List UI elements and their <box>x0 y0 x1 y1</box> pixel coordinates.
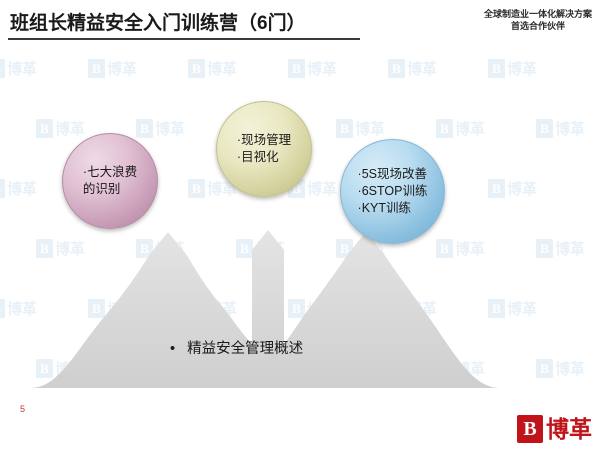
logo-mark-icon: B <box>517 415 543 443</box>
base-label-text: 精益安全管理概述 <box>187 341 303 357</box>
watermark-logo: B博革 <box>388 58 437 79</box>
bubble-site-lines: ·现场管理 ·目视化 <box>231 132 297 166</box>
watermark-text: 博革 <box>307 58 337 79</box>
page-title: 班组长精益安全入门训练营（6门） <box>10 8 306 35</box>
logo-text: 博革 <box>546 415 592 443</box>
slide: B博革B博革B博革B博革B博革B博革B博革B博革B博革B博革B博革B博革B博革B… <box>0 0 600 450</box>
page-number: 5 <box>20 404 25 414</box>
watermark-mark-icon: B <box>388 59 405 78</box>
bubble-waste-line-1: ·七大浪费 <box>83 164 137 181</box>
watermark-logo: B博革 <box>88 58 137 79</box>
watermark-text: 博革 <box>7 58 37 79</box>
bubble-site-line-2: ·目视化 <box>237 149 291 166</box>
watermark-text: 博革 <box>407 58 437 79</box>
base-label: •精益安全管理概述 <box>170 337 303 358</box>
bubble-site-line-1: ·现场管理 <box>237 132 291 149</box>
watermark-mark-icon: B <box>88 59 105 78</box>
header-tagline-line-1: 全球制造业一体化解决方案 <box>484 8 592 20</box>
watermark-mark-icon: B <box>488 59 505 78</box>
bubble-5s-line-1: ·5S现场改善 <box>358 166 428 183</box>
base-bullet: • <box>170 341 175 357</box>
header-tagline-line-2: 首选合作伙伴 <box>484 20 592 32</box>
watermark-mark-icon: B <box>188 59 205 78</box>
watermark-mark-icon: B <box>288 59 305 78</box>
company-logo: B 博革 <box>517 415 592 443</box>
title-underline <box>8 38 360 40</box>
bubble-5s-line-3: ·KYT训练 <box>358 200 428 217</box>
watermark-text: 博革 <box>107 58 137 79</box>
bubble-waste-line-2: 的识别 <box>83 181 137 198</box>
bubble-site[interactable]: ·现场管理 ·目视化 <box>216 101 312 197</box>
watermark-logo: B博革 <box>0 58 37 79</box>
bubble-5s-lines: ·5S现场改善 ·6STOP训练 ·KYT训练 <box>352 166 434 217</box>
bubble-waste-lines: ·七大浪费 的识别 <box>77 164 143 198</box>
watermark-mark-icon: B <box>0 59 5 78</box>
bubble-5s[interactable]: ·5S现场改善 ·6STOP训练 ·KYT训练 <box>340 139 445 244</box>
watermark-text: 博革 <box>207 58 237 79</box>
title-bar: 班组长精益安全入门训练营（6门） 全球制造业一体化解决方案 首选合作伙伴 <box>0 0 600 42</box>
watermark-logo: B博革 <box>188 58 237 79</box>
bubble-waste[interactable]: ·七大浪费 的识别 <box>62 133 158 229</box>
header-tagline: 全球制造业一体化解决方案 首选合作伙伴 <box>484 8 592 32</box>
watermark-text: 博革 <box>507 58 537 79</box>
watermark-logo: B博革 <box>488 58 537 79</box>
watermark-logo: B博革 <box>288 58 337 79</box>
bubble-5s-line-2: ·6STOP训练 <box>358 183 428 200</box>
